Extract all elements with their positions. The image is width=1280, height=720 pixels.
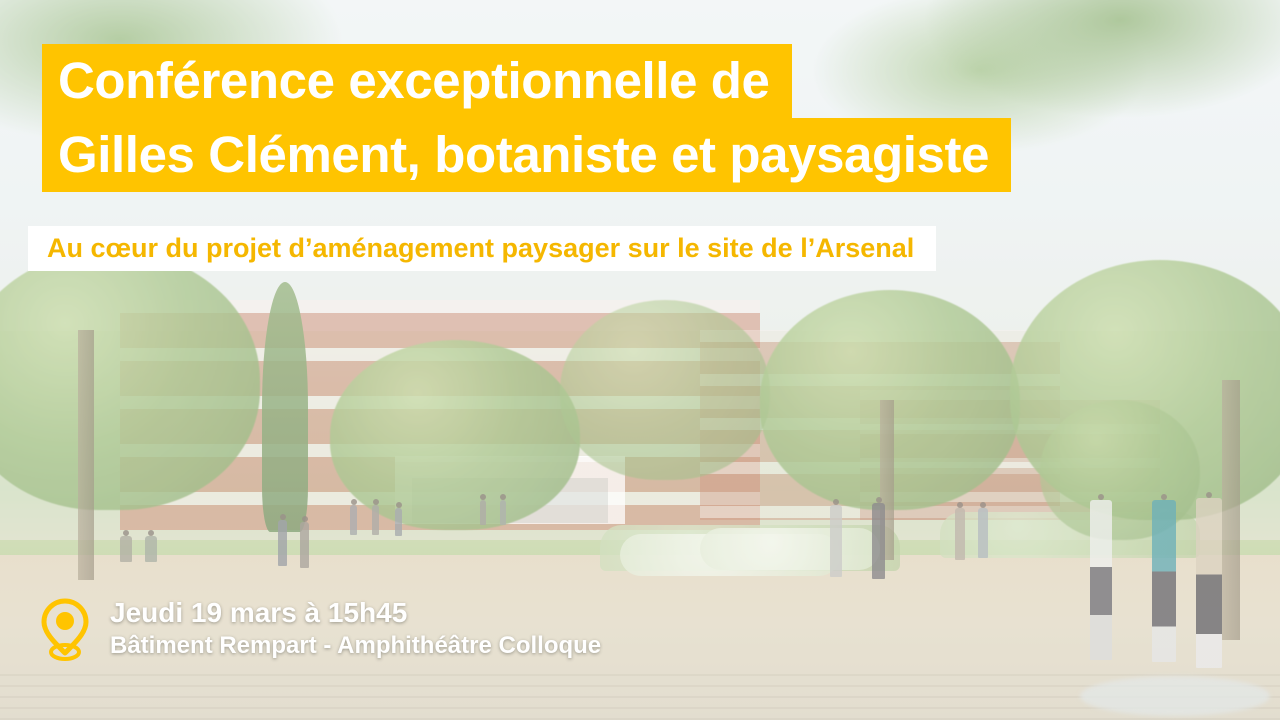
tree-trunk: [1222, 380, 1240, 640]
pedestrian: [120, 536, 132, 562]
tree-trunk: [78, 330, 94, 580]
tree: [560, 300, 770, 480]
pedestrian: [1152, 500, 1176, 662]
map-pin-icon: [36, 597, 94, 661]
title-banner: Conférence exceptionnelle de Gilles Clém…: [42, 44, 1011, 192]
pedestrian: [300, 522, 309, 568]
pedestrian: [955, 508, 965, 560]
subtitle-band: Au cœur du projet d’aménagement paysager…: [28, 226, 936, 271]
pedestrian: [480, 500, 486, 525]
event-text: Jeudi 19 mars à 15h45 Bâtiment Rempart -…: [110, 596, 601, 662]
puddle: [1080, 676, 1270, 716]
pedestrian: [278, 520, 287, 566]
poster: Conférence exceptionnelle de Gilles Clém…: [0, 0, 1280, 720]
pedestrian: [145, 536, 157, 562]
tree: [330, 340, 580, 530]
pedestrian: [395, 508, 402, 536]
title-line-2: Gilles Clément, botaniste et paysagiste: [42, 118, 1011, 192]
pedestrian: [830, 505, 842, 577]
pedestrian: [350, 505, 357, 535]
title-line-1: Conférence exceptionnelle de: [42, 44, 792, 118]
cypress-tree: [262, 282, 308, 532]
pedestrian: [978, 508, 988, 558]
pedestrian: [372, 505, 379, 535]
pedestrian: [500, 500, 506, 525]
flower-bed: [700, 528, 880, 570]
pedestrian: [1090, 500, 1112, 660]
pedestrian: [1196, 498, 1222, 668]
event-date: Jeudi 19 mars à 15h45: [110, 596, 601, 630]
event-info: Jeudi 19 mars à 15h45 Bâtiment Rempart -…: [36, 596, 601, 662]
tree: [1040, 400, 1200, 540]
pedestrian: [872, 503, 885, 579]
event-venue: Bâtiment Rempart - Amphithéâtre Colloque: [110, 630, 601, 662]
